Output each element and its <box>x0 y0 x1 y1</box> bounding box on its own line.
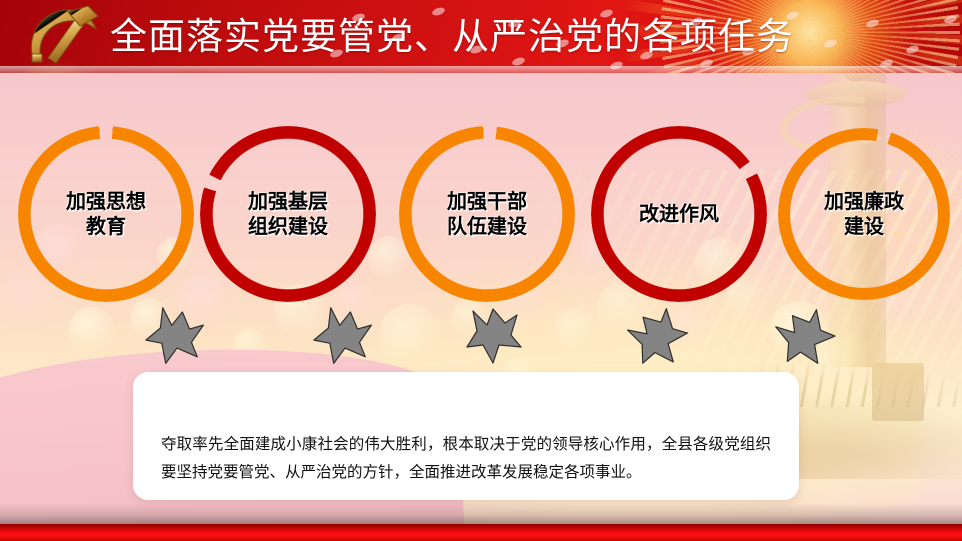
process-ring-text-holder-4: 改进作风 <box>591 126 767 302</box>
process-ring-label-5: 加强廉政建设 <box>824 189 904 239</box>
slide-canvas: 全面落实党要管党、从严治党的各项任务 加强思想教育加强基层组织建设加强干部队伍建… <box>0 0 962 541</box>
process-ring-text-holder-1: 加强思想教育 <box>18 126 194 302</box>
ring-label-line-2: 建设 <box>824 214 904 239</box>
process-ring-text-holder-5: 加强廉政建设 <box>778 128 950 300</box>
ring-label-line-1: 加强基层 <box>248 189 328 214</box>
process-ring-text-holder-2: 加强基层组织建设 <box>200 126 376 302</box>
process-ring-label-4: 改进作风 <box>639 202 719 227</box>
ring-label-line-1: 加强廉政 <box>824 189 904 214</box>
footer-band <box>0 524 962 541</box>
ring-label-line-1: 改进作风 <box>639 202 719 227</box>
ring-label-line-2: 组织建设 <box>248 214 328 239</box>
header-gloss-strip <box>0 66 962 73</box>
process-ring-label-1: 加强思想教育 <box>66 189 146 239</box>
arrow-down-3-icon <box>465 305 523 367</box>
summary-text: 夺取率先全面建成小康社会的伟大胜利，根本取决于党的领导核心作用，全县各级党组织要… <box>161 430 771 486</box>
summary-text-card: 夺取率先全面建成小康社会的伟大胜利，根本取决于党的领导核心作用，全县各级党组织要… <box>133 372 799 500</box>
cpc-hammer-sickle-emblem <box>18 2 108 68</box>
ring-label-line-2: 教育 <box>66 214 146 239</box>
process-ring-text-holder-3: 加强干部队伍建设 <box>399 126 575 302</box>
great-wall-tower <box>872 363 924 421</box>
slide-header-band: 全面落实党要管党、从严治党的各项任务 <box>0 0 962 73</box>
process-ring-label-2: 加强基层组织建设 <box>248 189 328 239</box>
page-title: 全面落实党要管党、从严治党的各项任务 <box>110 13 794 60</box>
ring-label-line-2: 队伍建设 <box>447 214 527 239</box>
ring-label-line-1: 加强思想 <box>66 189 146 214</box>
process-ring-label-3: 加强干部队伍建设 <box>447 189 527 239</box>
ring-label-line-1: 加强干部 <box>447 189 527 214</box>
footer-shadow <box>0 503 962 525</box>
